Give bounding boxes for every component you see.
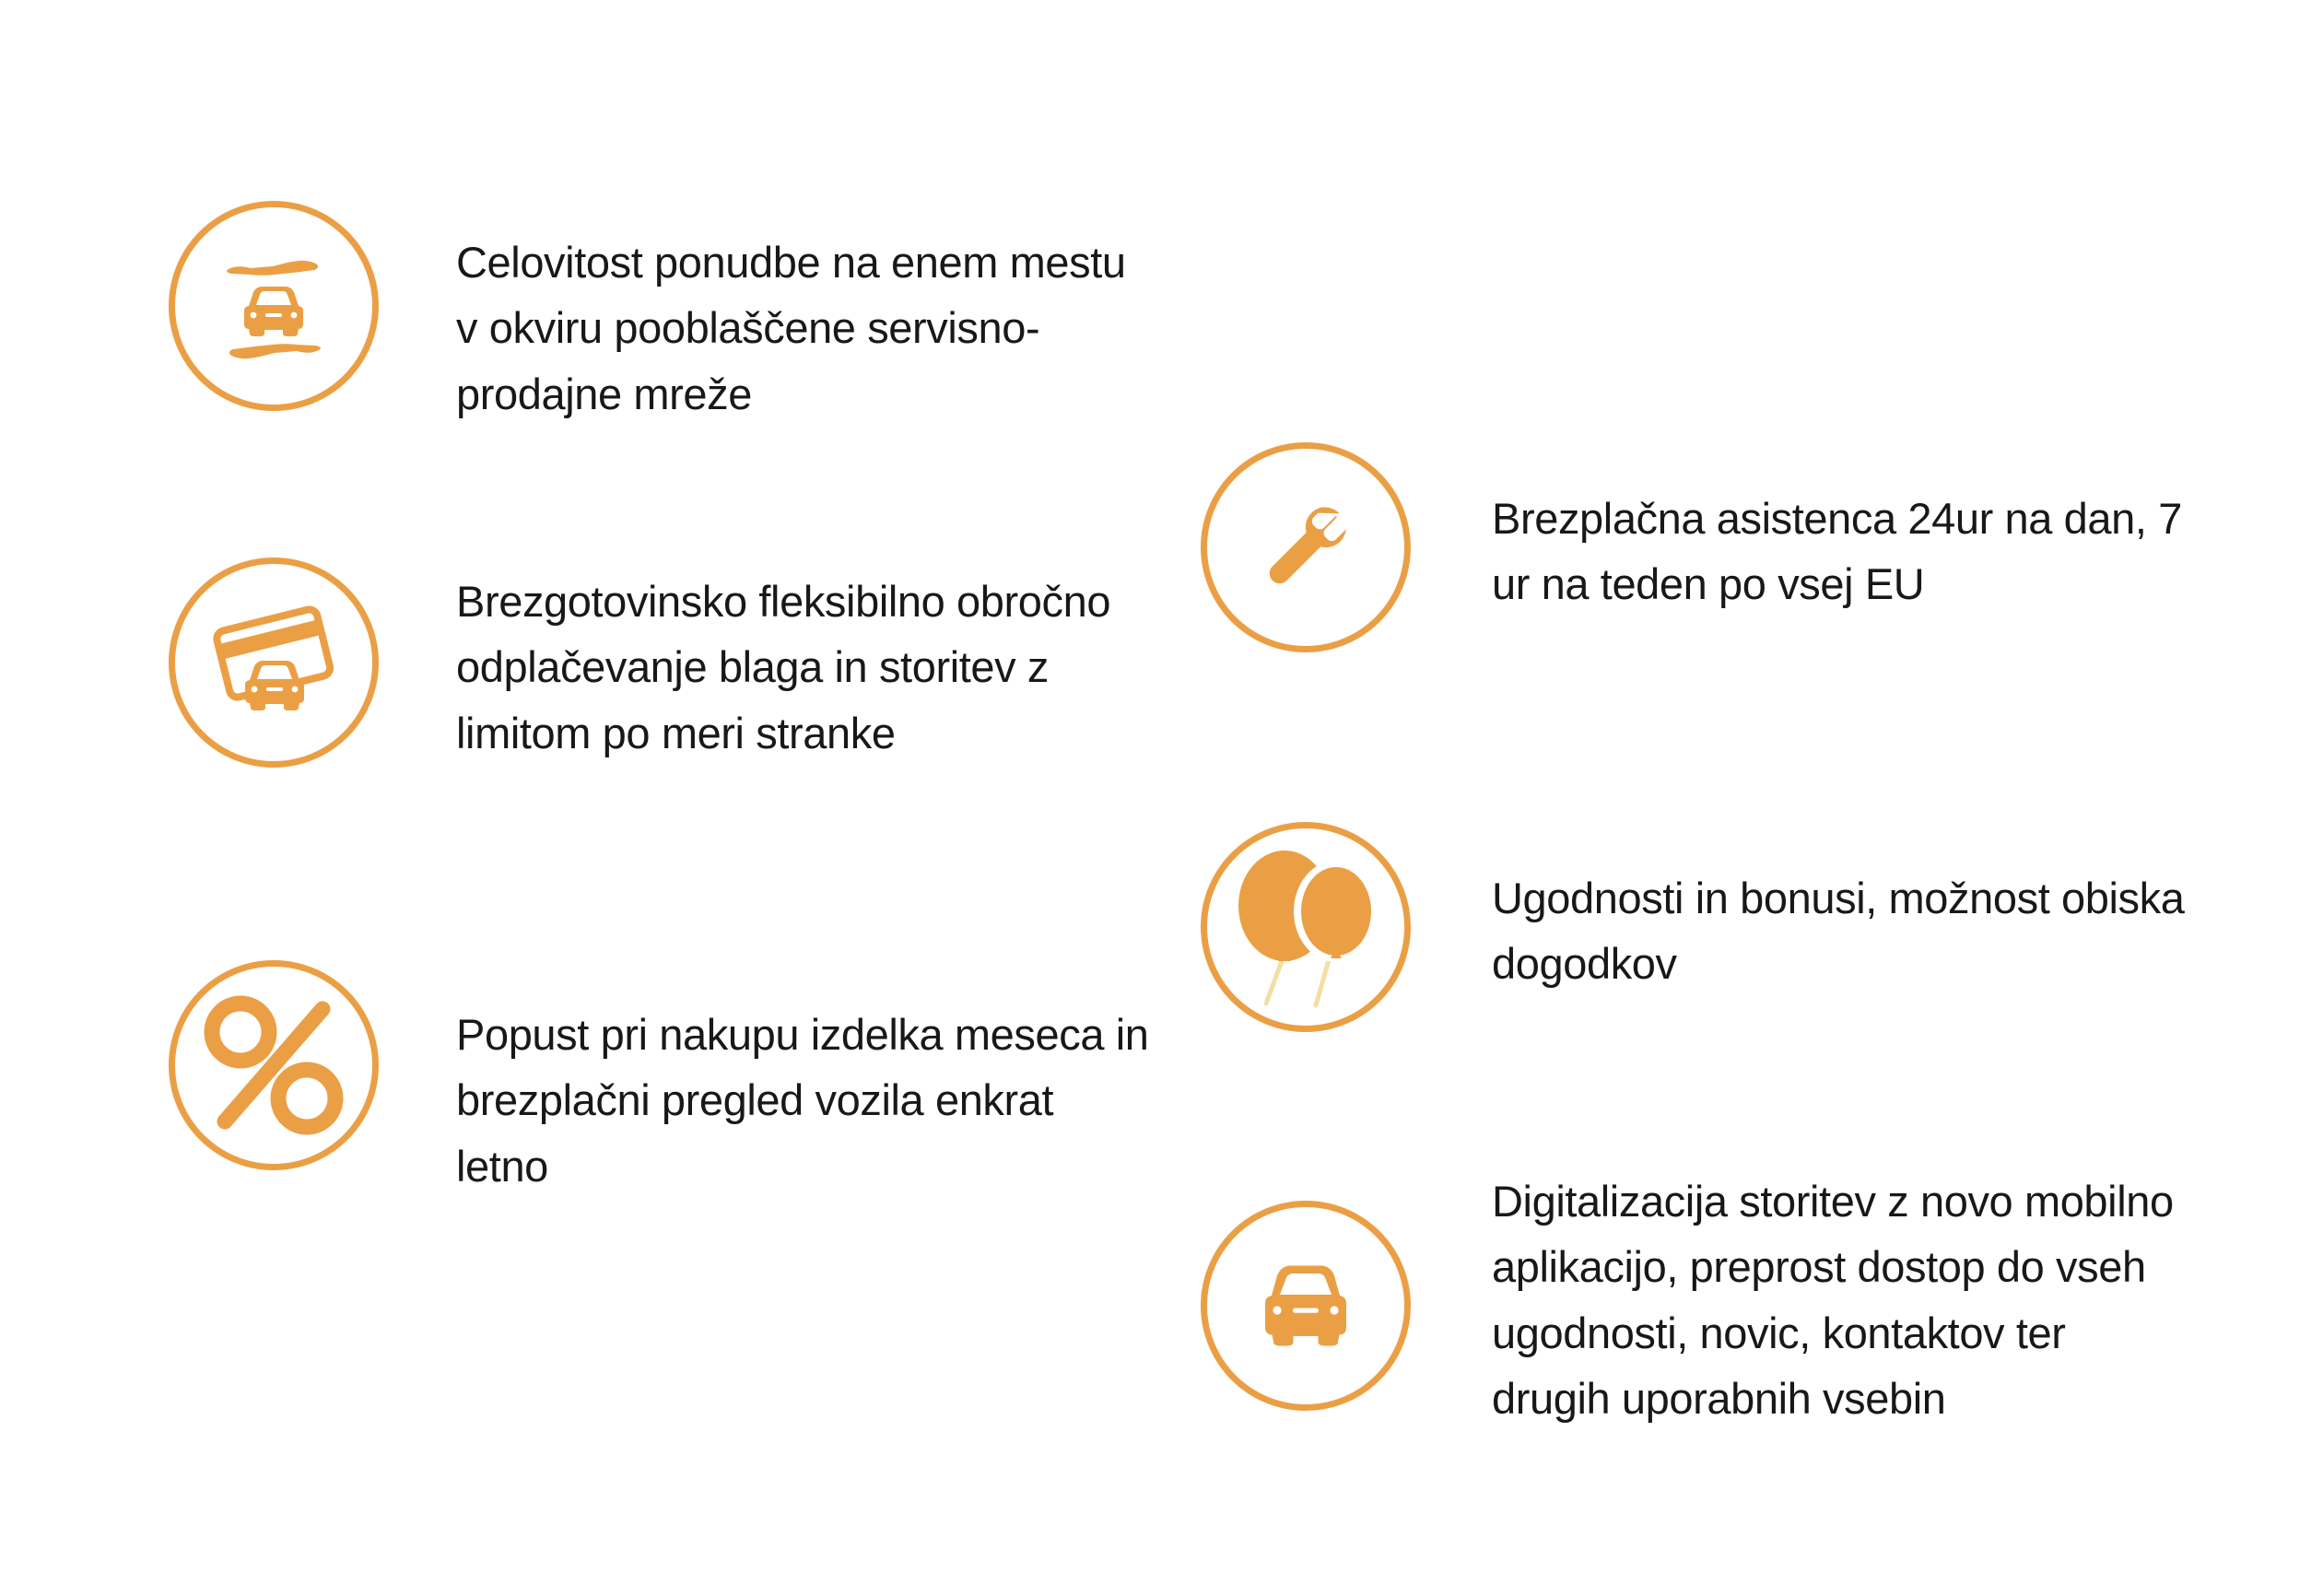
benefit-text-discount: Popust pri nakupu izdelka meseca in brez… — [456, 1002, 1156, 1199]
wrench-icon — [1254, 496, 1357, 599]
icon-badge-car — [1201, 1201, 1411, 1411]
car-icon — [1249, 1258, 1363, 1354]
credit-card-car-icon — [211, 603, 336, 722]
percent-icon — [196, 988, 351, 1143]
balloons-icon — [1227, 845, 1384, 1009]
benefit-text-cashless-financing: Brezgotovinsko fleksibilno obročno odpla… — [456, 569, 1184, 766]
benefit-item-discount: Popust pri nakupu izdelka meseca in brez… — [169, 960, 1156, 1199]
benefit-text-roadside-assistance: Brezplačna asistenca 24ur na dan, 7 ur n… — [1492, 486, 2220, 617]
benefit-item-cashless-financing: Brezgotovinsko fleksibilno obročno odpla… — [169, 557, 1184, 768]
icon-badge-car-in-hands — [169, 201, 379, 411]
benefit-text-complete-offer: Celovitost ponudbe na enem mestu v okvir… — [456, 229, 1138, 427]
icon-badge-wrench — [1201, 442, 1411, 652]
benefit-item-bonuses-events: Ugodnosti in bonusi, možnost obiska dogo… — [1201, 822, 2220, 1032]
benefit-item-digital-services: Digitalizacija storitev z novo mobilno a… — [1201, 1201, 2192, 1432]
benefits-infographic: Celovitost ponudbe na enem mestu v okvir… — [0, 0, 2323, 1596]
car-in-hands-icon — [219, 247, 328, 365]
icon-badge-percent — [169, 960, 379, 1170]
benefit-item-roadside-assistance: Brezplačna asistenca 24ur na dan, 7 ur n… — [1201, 442, 2220, 652]
benefit-text-bonuses-events: Ugodnosti in bonusi, možnost obiska dogo… — [1492, 865, 2220, 997]
benefit-item-complete-offer: Celovitost ponudbe na enem mestu v okvir… — [169, 201, 1138, 427]
benefit-text-digital-services: Digitalizacija storitev z novo mobilno a… — [1492, 1168, 2192, 1432]
icon-badge-credit-card-car — [169, 557, 379, 768]
icon-badge-balloons — [1201, 822, 1411, 1032]
